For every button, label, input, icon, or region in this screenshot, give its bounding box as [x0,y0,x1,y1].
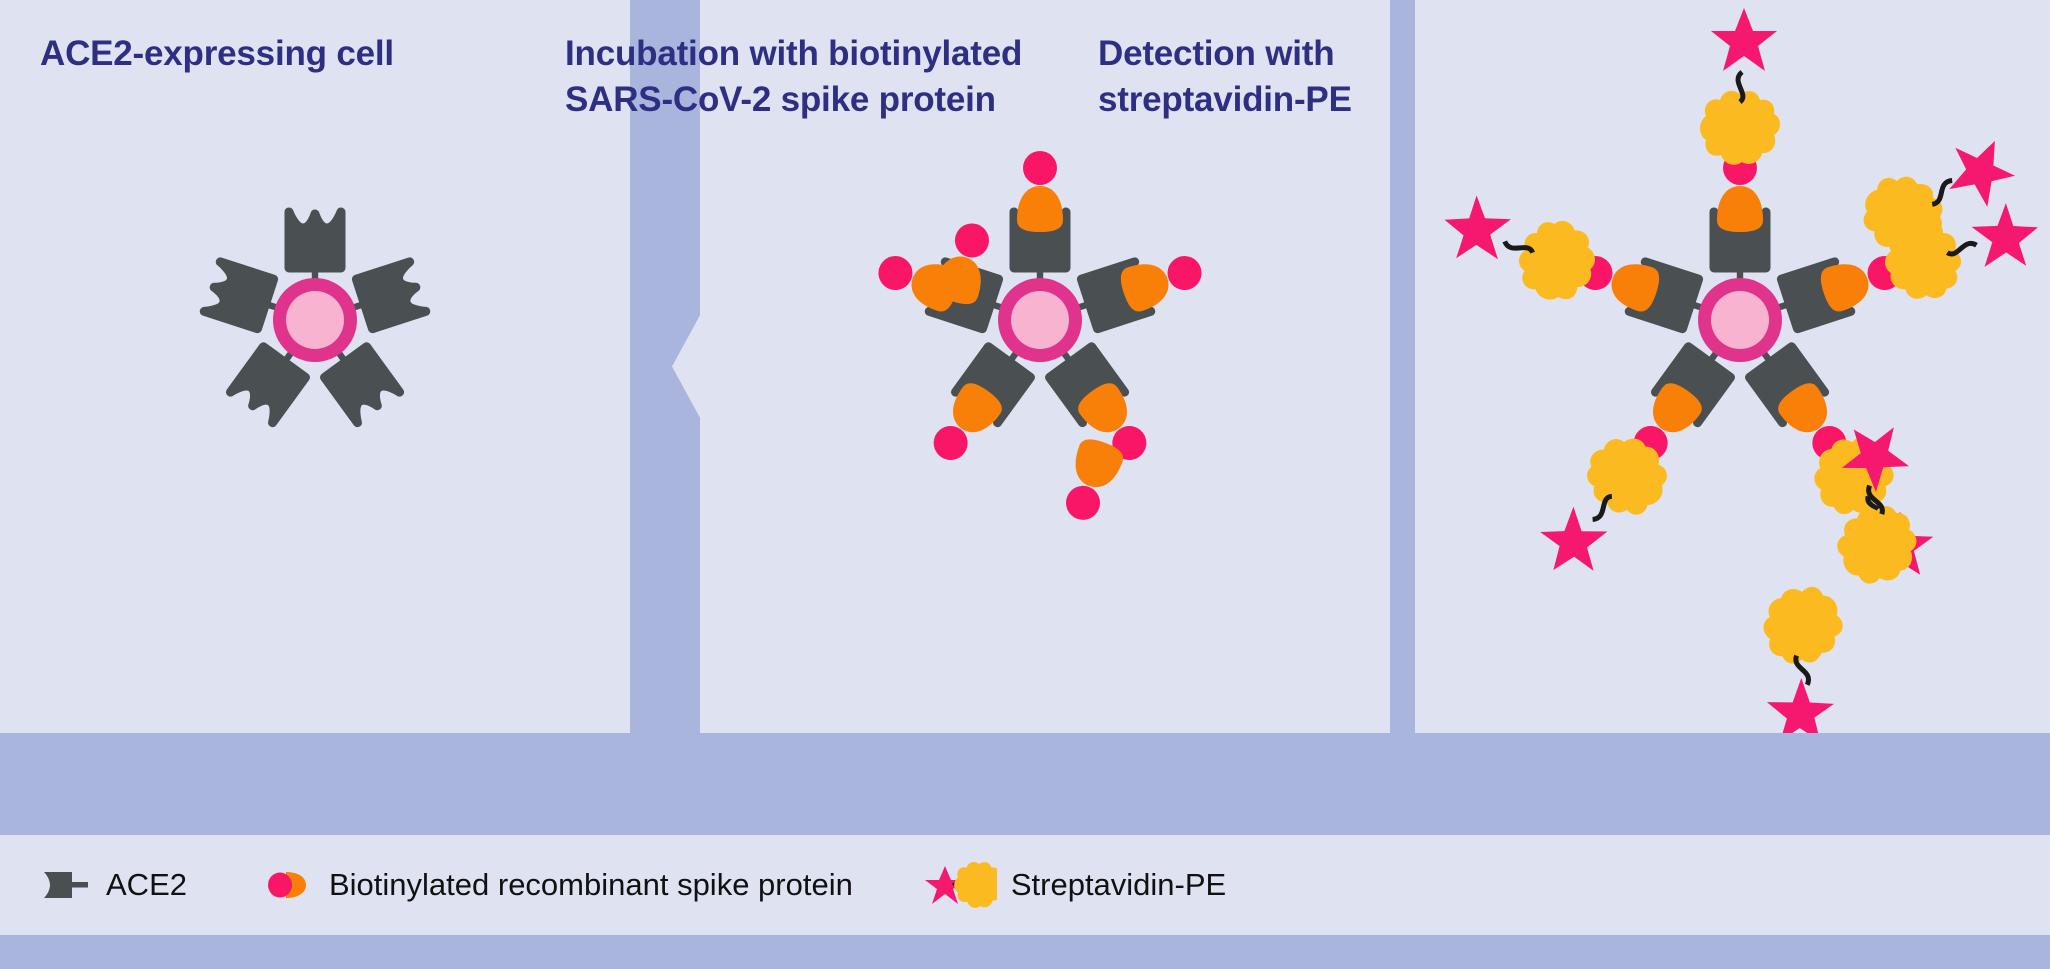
legend-label-spike-protein: Biotinylated recombinant spike protein [329,867,853,903]
ace2-receptor-spike-streptavidin [1431,186,1728,350]
legend-item-streptavidin-pe: Streptavidin-PE [923,835,1226,935]
biotinylated-spike-protein-icon [265,864,315,906]
ace2-receptor-spike-streptavidin [1524,318,1757,596]
free-streptavidin-pe [1711,572,1895,733]
ace2-receptor-icon [38,865,92,905]
panel-2-title: Incubation with biotinylated SARS-CoV-2 … [565,31,1085,123]
panel-2-title-line-1: Incubation with biotinylated [565,31,1085,77]
ace2-receptor-spike-streptavidin [1700,8,1780,294]
legend-item-spike-protein: Biotinylated recombinant spike protein [265,835,853,935]
panel-3-title: Detection with streptavidin-PE [1098,31,1568,123]
panel-3-title-line-2: streptavidin-PE [1098,77,1568,123]
legend: ACE2 Biotinylated recombinant spike prot… [0,835,2050,935]
legend-label-ace2: ACE2 [106,867,187,903]
panel-2-title-line-2: SARS-CoV-2 spike protein [565,77,1085,123]
panel-3-title-line-1: Detection with [1098,31,1568,77]
panel-1-title-line-1: ACE2-expressing cell [40,31,600,77]
streptavidin-pe-icon [923,861,997,909]
legend-strip: ACE2 Biotinylated recombinant spike prot… [0,835,2050,935]
panel-1-title: ACE2-expressing cell [40,31,600,77]
legend-label-streptavidin-pe: Streptavidin-PE [1011,867,1226,903]
diagram-canvas: ACE2-expressing cell Incubation with bio… [0,0,2050,969]
panels-row: ACE2-expressing cell Incubation with bio… [0,0,2050,733]
legend-item-ace2: ACE2 [38,835,187,935]
divider-band-lower [0,935,2050,969]
free-streptavidin-pe [1781,409,1967,599]
ace2-receptor-spike-streptavidin [1723,318,1956,596]
cell-interior [1711,291,1769,349]
divider-band-upper [0,733,2050,835]
